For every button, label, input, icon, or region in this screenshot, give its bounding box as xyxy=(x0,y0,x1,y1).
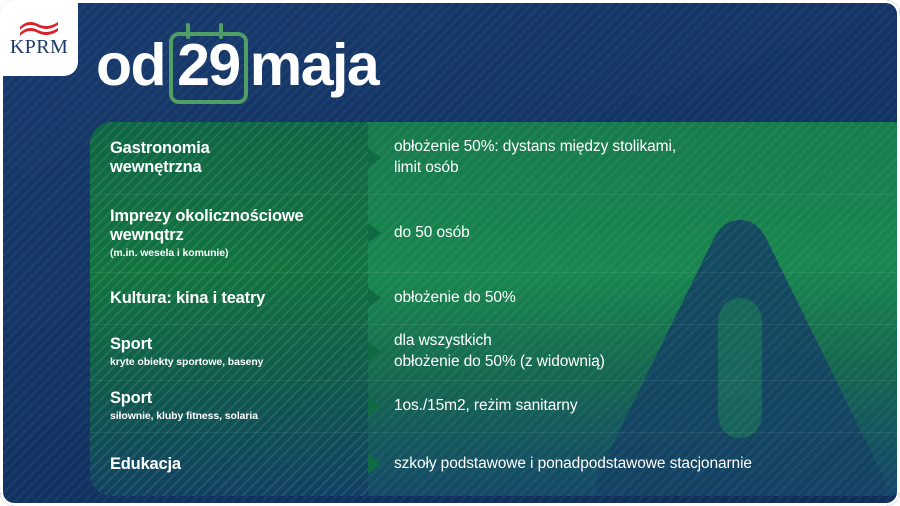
row-label-cell: Sport kryte obiekty sportowe, baseny xyxy=(90,335,368,369)
row-label-title: Kultura: kina i teatry xyxy=(110,289,354,308)
calendar-icon: 29 xyxy=(169,26,248,104)
row-label-subtitle: kryte obiekty sportowe, baseny xyxy=(110,356,354,369)
table-row: Sport kryte obiekty sportowe, baseny dla… xyxy=(90,324,900,380)
table-row: Sport siłownie, kluby fitness, solaria 1… xyxy=(90,380,900,432)
kprm-logo: KPRM xyxy=(0,0,78,76)
row-label-title: Gastronomia xyxy=(110,139,354,158)
row-label-cell: Imprezy okolicznościowe wewnqtrz (m.in. … xyxy=(90,207,368,260)
row-label-title: Imprezy okolicznościowe xyxy=(110,207,354,226)
page-title-prefix: od xyxy=(96,36,165,95)
row-value-line: limit osób xyxy=(394,158,884,179)
page-title: od 29 maja xyxy=(96,32,378,98)
row-arrow-notch xyxy=(368,288,381,308)
row-label-title-line2: wewnętrzna xyxy=(110,158,354,177)
row-arrow-notch xyxy=(368,454,381,474)
restrictions-table: Gastronomia wewnętrzna obłożenie 50%: dy… xyxy=(90,122,900,496)
page-title-day: 29 xyxy=(175,36,242,95)
row-value-cell: 1os./15m2, reżim sanitarny xyxy=(368,396,900,417)
row-value-cell: obłożenie 50%: dystans między stolikami,… xyxy=(368,137,900,179)
row-label-cell: Kultura: kina i teatry xyxy=(90,289,368,308)
page-title-suffix: maja xyxy=(250,36,378,95)
row-value-line: dla wszystkich xyxy=(394,331,884,352)
row-value-line: obłożenie 50%: dystans między stolikami, xyxy=(394,137,884,158)
row-label-cell: Gastronomia wewnętrzna xyxy=(90,139,368,177)
poster: KPRM od 29 maja Gastronomia wewnętrz xyxy=(0,0,900,506)
row-arrow-notch xyxy=(368,223,381,243)
table-rows: Gastronomia wewnętrzna obłożenie 50%: dy… xyxy=(90,122,900,496)
row-label-cell: Edukacja xyxy=(90,455,368,474)
row-value-line: obłożenie do 50% (z widownią) xyxy=(394,352,884,373)
kprm-logo-text: KPRM xyxy=(10,37,68,57)
row-value-line: szkoły podstawowe i ponadpodstawowe stac… xyxy=(394,454,884,475)
row-label-cell: Sport siłownie, kluby fitness, solaria xyxy=(90,389,368,423)
row-value-line: obłożenie do 50% xyxy=(394,288,884,309)
row-arrow-notch xyxy=(368,148,381,168)
polish-flag-wave-icon xyxy=(18,20,60,36)
row-arrow-notch xyxy=(368,342,381,362)
row-label-title: Sport xyxy=(110,389,354,408)
row-label-subtitle: (m.in. wesela i komunie) xyxy=(110,247,354,260)
table-row: Edukacja szkoły podstawowe i ponadpodsta… xyxy=(90,432,900,496)
row-label-title: Edukacja xyxy=(110,455,354,474)
table-row: Imprezy okolicznościowe wewnqtrz (m.in. … xyxy=(90,194,900,272)
row-label-title: Sport xyxy=(110,335,354,354)
row-value-line: 1os./15m2, reżim sanitarny xyxy=(394,396,884,417)
row-value-cell: do 50 osób xyxy=(368,223,900,244)
row-value-cell: dla wszystkich obłożenie do 50% (z widow… xyxy=(368,331,900,373)
row-label-subtitle: siłownie, kluby fitness, solaria xyxy=(110,410,354,423)
row-value-cell: szkoły podstawowe i ponadpodstawowe stac… xyxy=(368,454,900,475)
row-value-line: do 50 osób xyxy=(394,223,884,244)
row-label-title-line2: wewnqtrz xyxy=(110,226,354,245)
table-row: Kultura: kina i teatry obłożenie do 50% xyxy=(90,272,900,324)
row-value-cell: obłożenie do 50% xyxy=(368,288,900,309)
table-row: Gastronomia wewnętrzna obłożenie 50%: dy… xyxy=(90,122,900,194)
row-arrow-notch xyxy=(368,396,381,416)
